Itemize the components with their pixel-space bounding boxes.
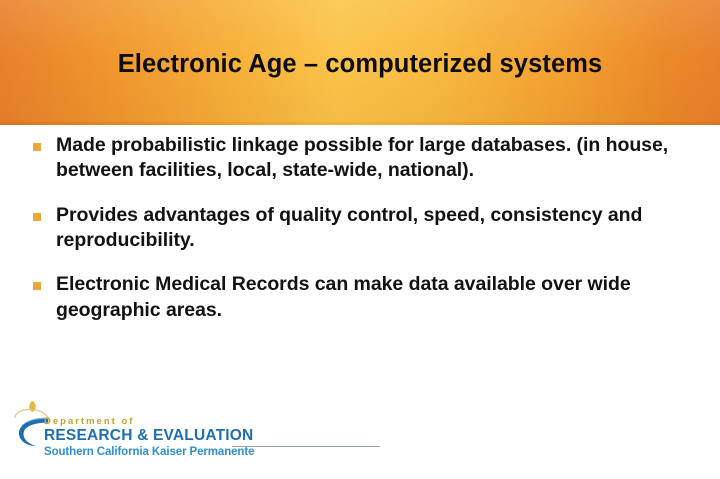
list-item-text: Provides advantages of quality control, … bbox=[56, 203, 680, 254]
page-title: Electronic Age – computerized systems bbox=[0, 50, 720, 78]
square-bullet-icon bbox=[33, 143, 41, 151]
logo-divider-rule bbox=[232, 446, 380, 447]
square-bullet-icon bbox=[33, 213, 41, 221]
logo-organization-name: RESEARCH & EVALUATION bbox=[44, 427, 394, 445]
logo-affiliation: Southern California Kaiser Permanente bbox=[44, 446, 394, 460]
list-item: Made probabilistic linkage possible for … bbox=[0, 133, 720, 184]
presentation-slide: Electronic Age – computerized systems Ma… bbox=[0, 0, 720, 479]
square-bullet-icon bbox=[33, 282, 41, 290]
bullet-list: Made probabilistic linkage possible for … bbox=[0, 133, 720, 342]
list-item: Provides advantages of quality control, … bbox=[0, 203, 720, 254]
list-item: Electronic Medical Records can make data… bbox=[0, 272, 720, 323]
logo-department-label: Department of bbox=[44, 417, 394, 427]
footer-logo: Department of RESEARCH & EVALUATION Sout… bbox=[0, 396, 400, 468]
logo-text-block: Department of RESEARCH & EVALUATION Sout… bbox=[44, 417, 394, 460]
title-banner: Electronic Age – computerized systems bbox=[0, 0, 720, 125]
list-item-text: Electronic Medical Records can make data… bbox=[56, 272, 680, 323]
list-item-text: Made probabilistic linkage possible for … bbox=[56, 133, 680, 184]
